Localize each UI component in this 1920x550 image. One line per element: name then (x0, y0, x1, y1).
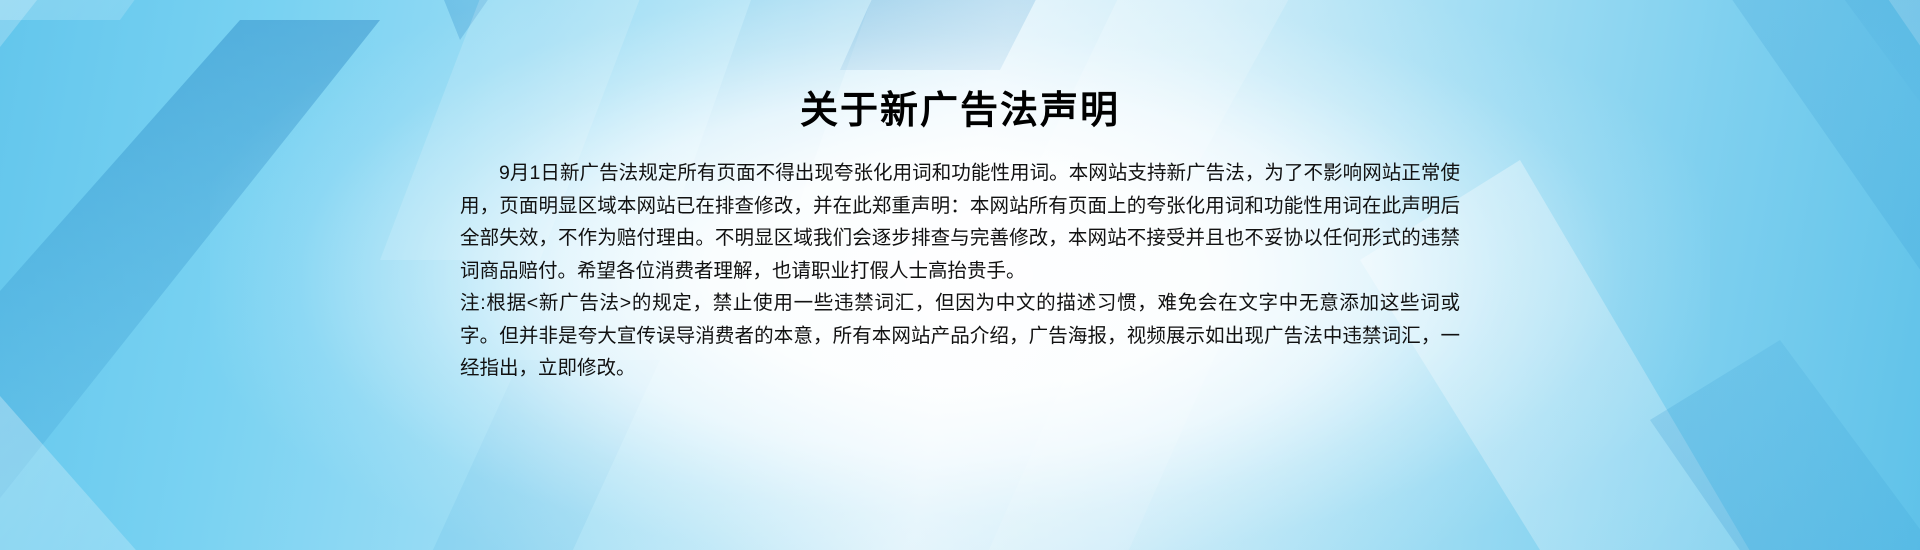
statement-text-block: 9月1日新广告法规定所有页面不得出现夸张化用词和功能性用词。本网站支持新广告法，… (460, 157, 1460, 385)
statement-content: 关于新广告法声明 9月1日新广告法规定所有页面不得出现夸张化用词和功能性用词。本… (0, 0, 1920, 550)
page-title: 关于新广告法声明 (800, 0, 1120, 130)
advertising-law-statement-banner: 关于新广告法声明 9月1日新广告法规定所有页面不得出现夸张化用词和功能性用词。本… (0, 0, 1920, 550)
paragraph-note-statement: 注:根据<新广告法>的规定，禁止使用一些违禁词汇，但因为中文的描述习惯，难免会在… (460, 287, 1460, 385)
paragraph-main-statement: 9月1日新广告法规定所有页面不得出现夸张化用词和功能性用词。本网站支持新广告法，… (460, 157, 1460, 287)
